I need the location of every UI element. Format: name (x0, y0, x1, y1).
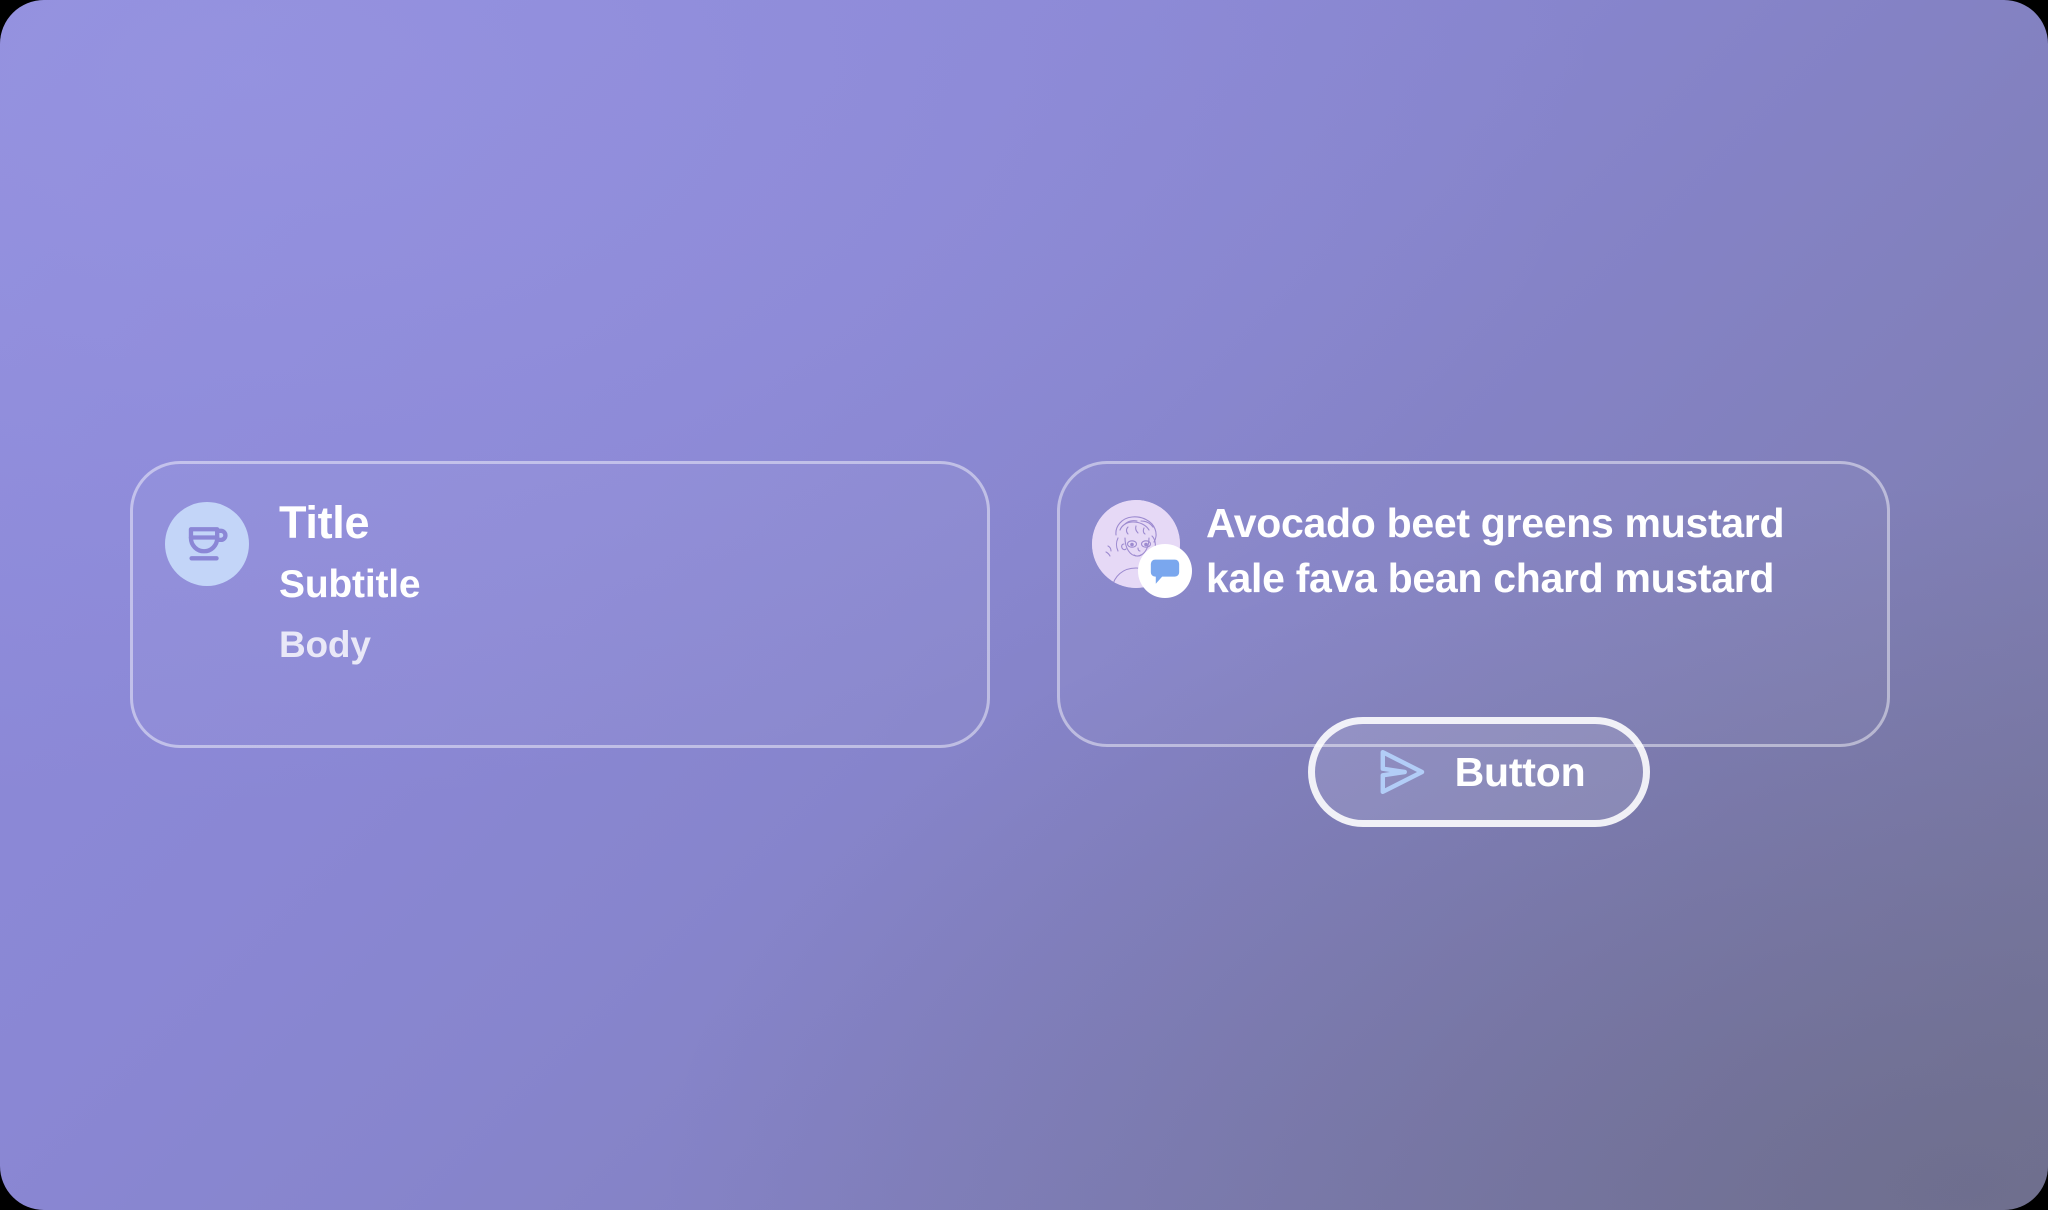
chat-badge (1138, 544, 1192, 598)
app-canvas: Title Subtitle Body (0, 0, 2048, 1210)
chat-bubble-icon (1148, 554, 1182, 588)
coffee-icon-container (165, 502, 249, 586)
send-button-label: Button (1455, 749, 1586, 796)
send-icon (1373, 744, 1429, 800)
send-button[interactable]: Button (1308, 717, 1650, 827)
card-text: Avocado beet greens mustard kale fava be… (1206, 496, 1816, 605)
card-body: Body (279, 626, 420, 665)
avatar[interactable] (1092, 500, 1180, 588)
card-subtitle: Subtitle (279, 565, 420, 606)
coffee-cup-icon (181, 518, 233, 570)
basic-list-item-card[interactable]: Title Subtitle Body (130, 461, 990, 748)
card-title: Title (279, 499, 420, 546)
send-icon-container (1373, 744, 1429, 800)
left-card-text-block: Title Subtitle Body (279, 499, 420, 665)
avatar-list-item-card[interactable]: Avocado beet greens mustard kale fava be… (1057, 461, 1890, 747)
